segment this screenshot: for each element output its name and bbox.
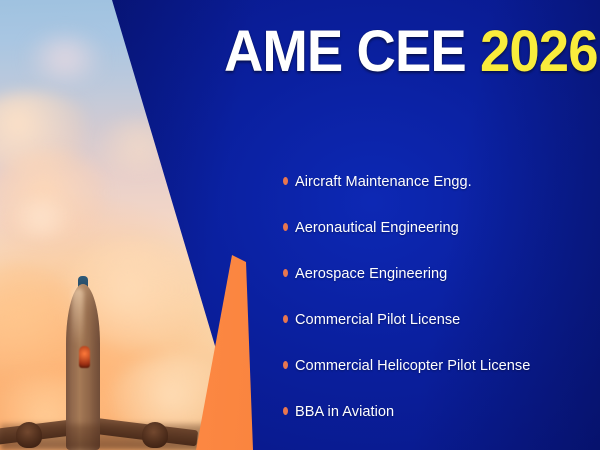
bullet-dot-icon: [283, 223, 288, 231]
banner-title: AME CEE 2026: [224, 23, 598, 81]
list-item: Aeronautical Engineering: [283, 204, 538, 250]
bullet-dot-icon: [283, 269, 288, 277]
list-item: Aircraft Maintenance Engg.: [283, 158, 538, 204]
list-item: Aerospace Engineering: [283, 250, 538, 296]
course-label: Commercial Helicopter Pilot License: [295, 357, 530, 374]
list-item: Commercial Pilot License: [283, 296, 538, 342]
course-label: Commercial Pilot License: [295, 311, 460, 328]
course-label: Aeronautical Engineering: [295, 219, 459, 236]
course-list: Aircraft Maintenance Engg. Aeronautical …: [283, 158, 538, 434]
course-label: Aircraft Maintenance Engg.: [295, 173, 472, 190]
course-label: BBA in Aviation: [295, 403, 394, 420]
title-main-text: AME CEE: [224, 19, 466, 84]
airplane-cockpit-window: [79, 346, 90, 368]
bullet-dot-icon: [283, 315, 288, 323]
bullet-dot-icon: [283, 361, 288, 369]
ame-cee-banner: AME CEE 2026 Aircraft Maintenance Engg. …: [0, 0, 600, 450]
bullet-dot-icon: [283, 177, 288, 185]
bullet-dot-icon: [283, 407, 288, 415]
title-year-text: 2026: [480, 19, 598, 84]
list-item: Commercial Helicopter Pilot License: [283, 342, 538, 388]
airplane-nose-highlight: [72, 288, 84, 346]
course-label: Aerospace Engineering: [295, 265, 447, 282]
list-item: BBA in Aviation: [283, 388, 538, 434]
